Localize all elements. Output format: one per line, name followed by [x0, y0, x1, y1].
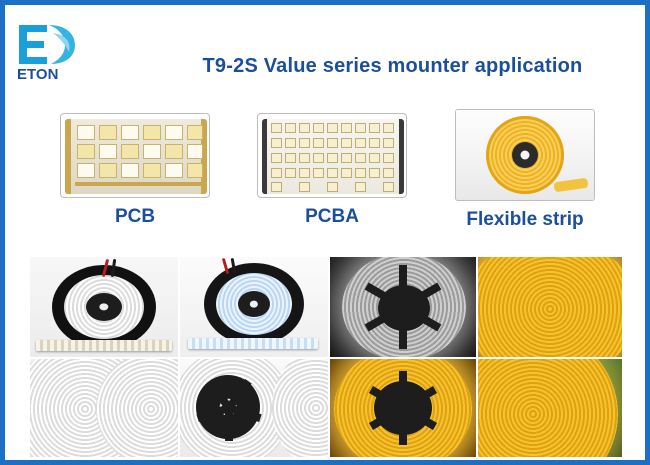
- page-title: T9-2S Value series mounter application: [145, 55, 640, 78]
- product-row: PCB: [5, 105, 645, 250]
- yellow-flexible-led-strip-reel-photo: [455, 109, 595, 201]
- logo-wordmark: ETON: [17, 66, 58, 83]
- product-caption-flexible-strip: Flexible strip: [455, 209, 595, 231]
- eton-logo: ETON: [13, 19, 133, 83]
- slide-canvas: ETON T9-2S Value series mounter applicat…: [0, 0, 650, 465]
- bare-pcb-strip-board-photo: [60, 113, 210, 198]
- black-reel-white-led-strip-photo: [30, 257, 178, 357]
- product-item-pcb: PCB: [60, 113, 210, 228]
- yellow-strip-reel-black-hub-photo: [330, 359, 476, 457]
- black-hub-reel-white-strip-photo: [180, 359, 328, 457]
- photo-gallery: [30, 257, 622, 457]
- product-caption-pcb: PCB: [60, 206, 210, 228]
- black-reel-blue-led-strip-photo: [180, 257, 328, 357]
- white-led-strip-reel-dark-room-photo: [330, 257, 476, 357]
- slide-header: ETON T9-2S Value series mounter applicat…: [5, 5, 645, 97]
- product-caption-pcba: PCBA: [257, 206, 407, 228]
- product-item-flexible-strip: Flexible strip: [455, 109, 595, 231]
- product-item-pcba: PCBA: [257, 113, 407, 228]
- assembled-led-pcba-photo: [257, 113, 407, 198]
- warm-white-strip-reel-closeup-photo: [478, 257, 622, 357]
- yellow-strip-outdoor-green-photo: [478, 359, 622, 457]
- white-strip-coil-closeup-photo: [30, 359, 178, 457]
